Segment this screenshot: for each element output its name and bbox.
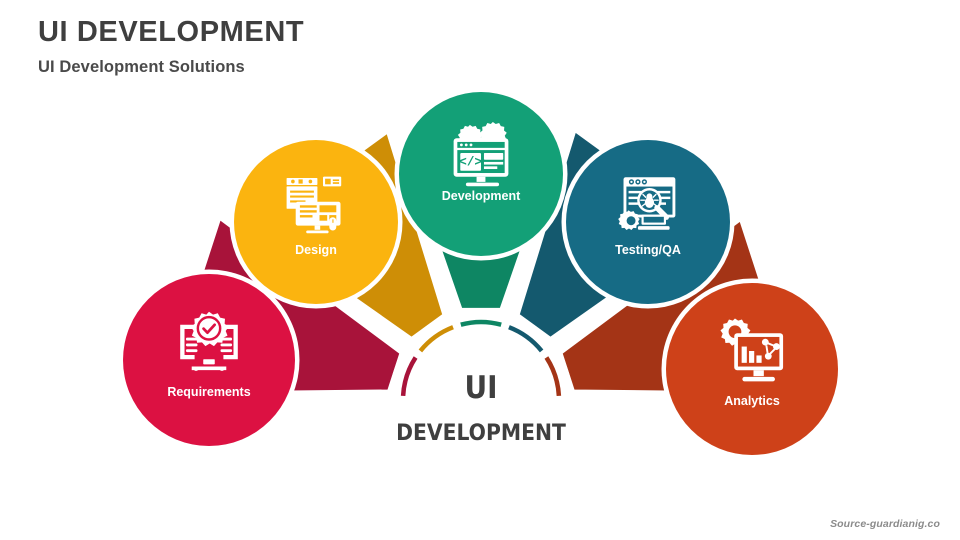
node-label-development: Development xyxy=(442,189,521,203)
hub-line-1: UI xyxy=(464,370,497,406)
node-label-design: Design xyxy=(295,243,337,257)
node-design[interactable]: Design xyxy=(230,136,403,309)
node-development[interactable]: Development xyxy=(395,88,568,261)
node-testing-qa[interactable]: Testing/QA xyxy=(562,136,735,309)
hub-line-2: DEVELOPMENT xyxy=(396,420,566,446)
slide-canvas: UI DEVELOPMENT UI Development Solutions xyxy=(0,0,960,540)
radial-petal-diagram: </> xyxy=(0,0,960,540)
node-label-testing-qa: Testing/QA xyxy=(615,243,681,257)
node-label-analytics: Analytics xyxy=(724,394,780,408)
node-label-requirements: Requirements xyxy=(167,385,250,399)
node-analytics[interactable]: Analytics xyxy=(662,279,843,460)
source-credit: Source-guardianig.co xyxy=(830,518,940,530)
